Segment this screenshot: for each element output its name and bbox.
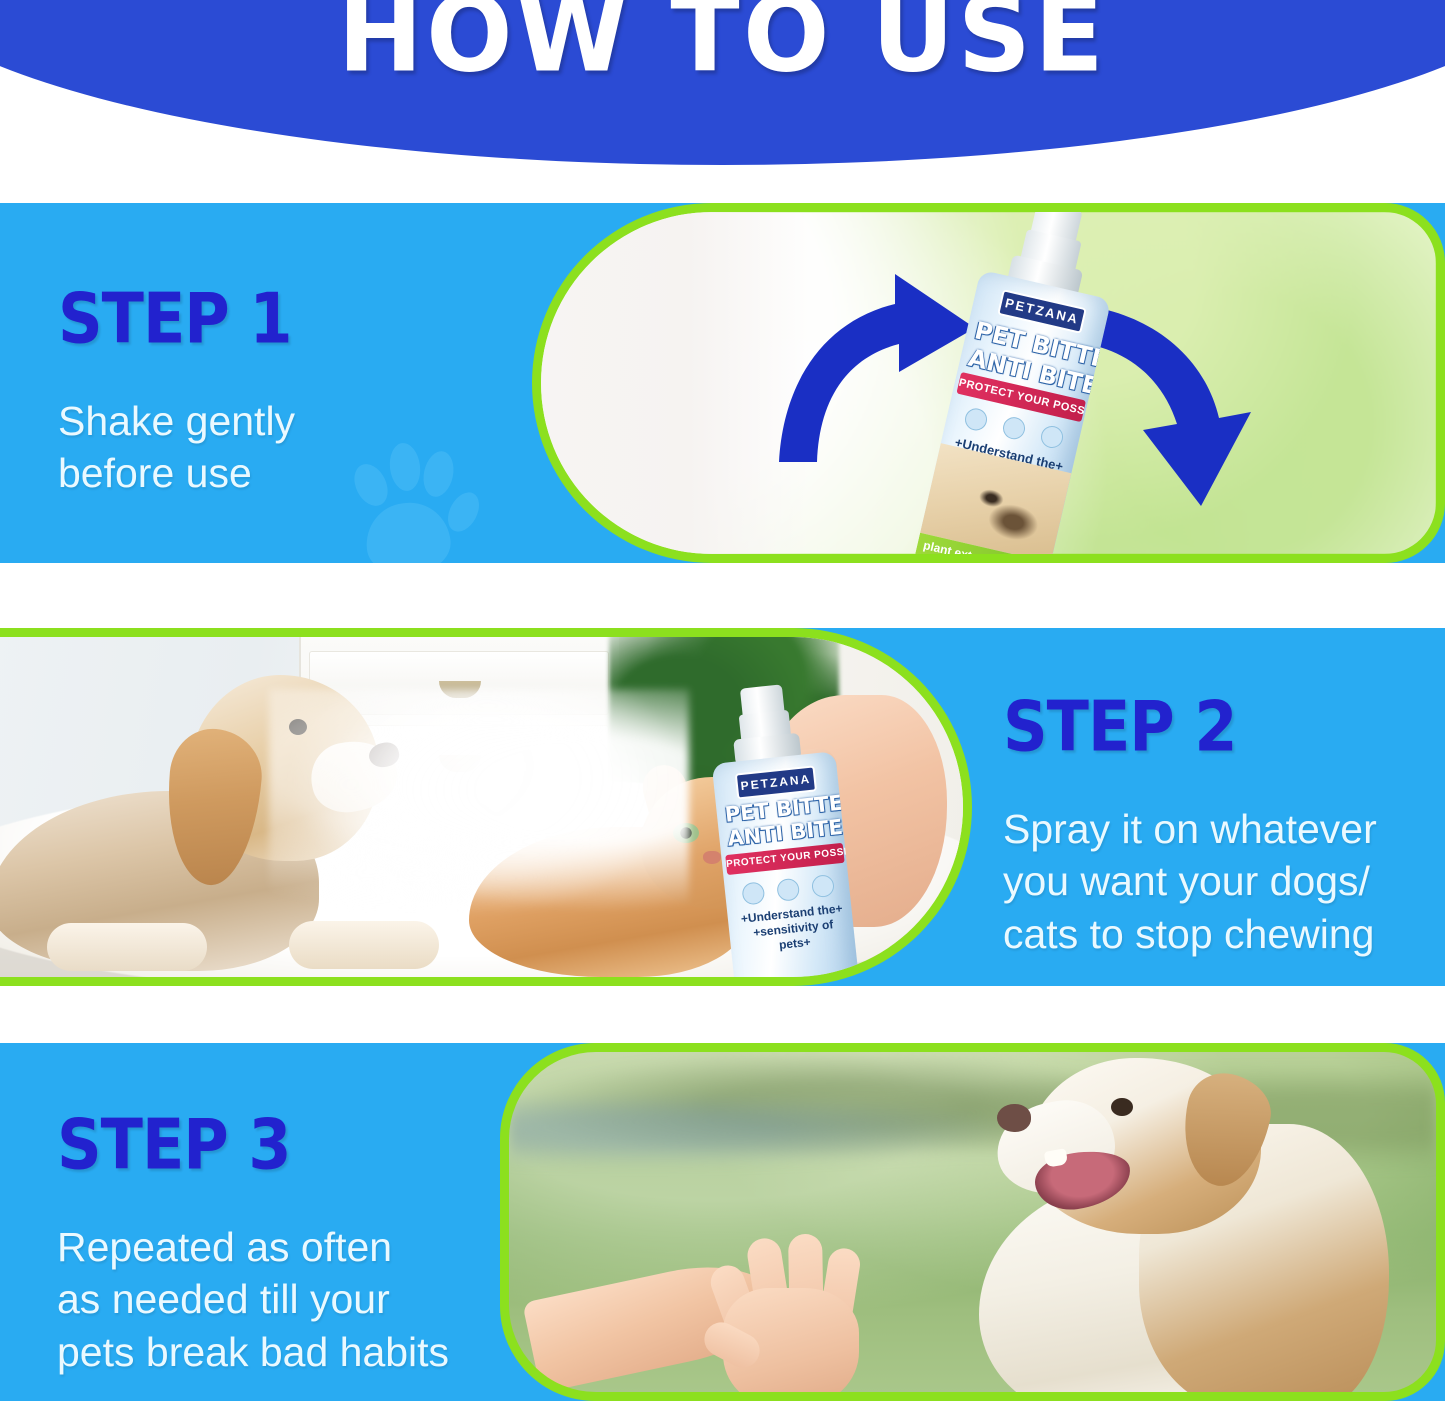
page-title: HOW TO USE <box>0 0 1445 96</box>
step-3-photo-inner <box>509 1052 1436 1392</box>
paw-print-icon <box>350 441 480 563</box>
label-subtitle: +Understand the+ +sensitivity of pets+ <box>737 901 849 957</box>
step-3-text: STEP 3 Repeated as often as needed till … <box>57 1108 507 1378</box>
step-2-text: STEP 2 Spray it on whatever you want you… <box>1003 690 1433 960</box>
spray-mist <box>269 689 689 929</box>
step-1-photo: PETZANA PET BITTER TASTE ANTI BITE INDUC… <box>532 203 1445 563</box>
human-arm <box>529 1214 859 1392</box>
step-2-body: Spray it on whatever you want your dogs/… <box>1003 803 1433 960</box>
step-2-photo: PETZANA PET BITTER TASTE ANTI BITE INDUC… <box>0 628 972 986</box>
step-2-heading: STEP 2 <box>1003 686 1433 768</box>
step-2-photo-inner: PETZANA PET BITTER TASTE ANTI BITE INDUC… <box>0 637 963 977</box>
australian-shepherd-dog <box>839 1052 1399 1392</box>
step-1-heading: STEP 1 <box>58 278 295 360</box>
header-banner: HOW TO USE <box>0 0 1445 165</box>
step-1-text: STEP 1 Shake gently before use <box>58 282 295 500</box>
open-hand <box>697 1224 873 1392</box>
step-1-body: Shake gently before use <box>58 395 295 500</box>
step-3-heading: STEP 3 <box>57 1104 507 1186</box>
blurred-highlight <box>541 212 810 554</box>
step-3-photo <box>500 1043 1445 1401</box>
room-background: PETZANA PET BITTER TASTE ANTI BITE INDUC… <box>0 637 963 977</box>
step-1-photo-inner: PETZANA PET BITTER TASTE ANTI BITE INDUC… <box>541 212 1436 554</box>
step-3-body: Repeated as often as needed till your pe… <box>57 1221 507 1378</box>
hand-holding-bottle: PETZANA PET BITTER TASTE ANTI BITE INDUC… <box>701 655 951 975</box>
park-background <box>509 1052 1436 1392</box>
